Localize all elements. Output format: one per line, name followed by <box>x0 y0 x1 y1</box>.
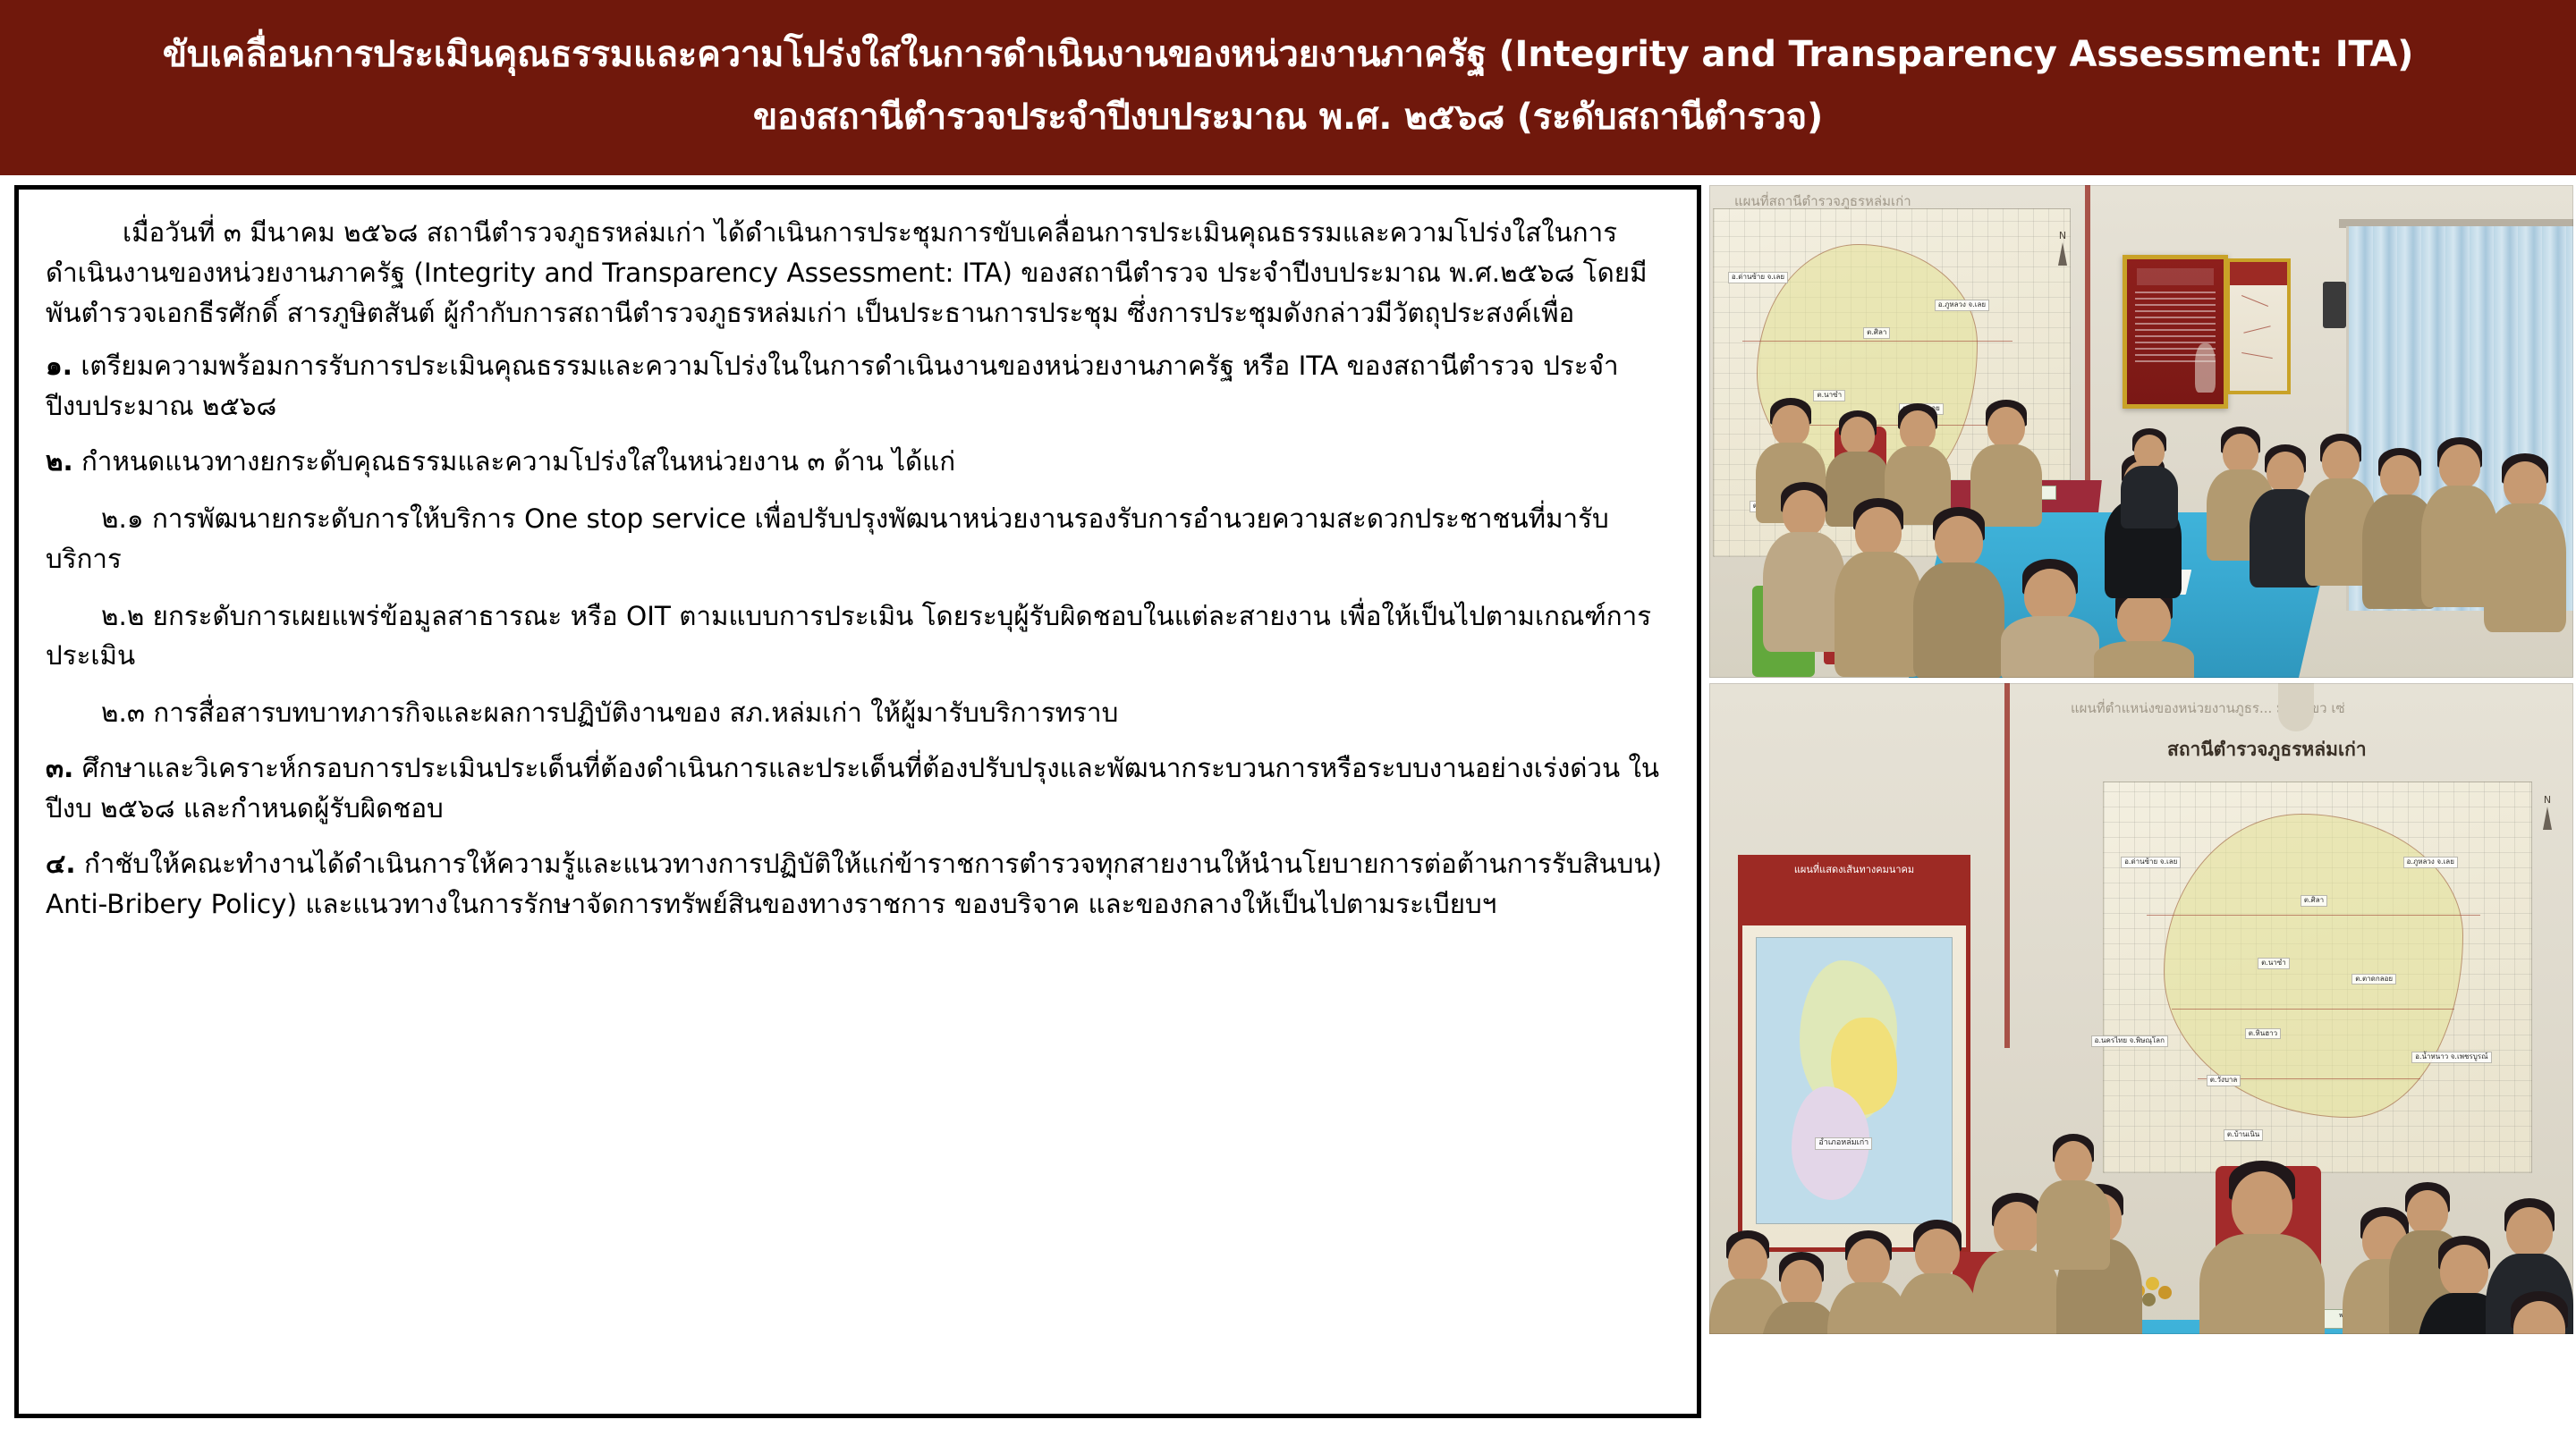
header-title-line-1: ขับเคลื่อนการประเมินคุณธรรมและความโปร่งใ… <box>163 28 2414 81</box>
poster-route-line <box>2244 325 2271 333</box>
person-head <box>2439 444 2480 489</box>
person-body <box>2484 503 2566 632</box>
list-item-2-3-number: ๒.๓ <box>101 697 145 728</box>
poster-page: ขับเคลื่อนการประเมินคุณธรรมและความโปร่งใ… <box>0 0 2576 1445</box>
route-map-district-label: อำเภอหล่มเก่า <box>1815 1137 1872 1150</box>
person-body <box>1835 552 1922 677</box>
poster-header-band <box>2137 268 2214 285</box>
officer-person <box>2001 559 2099 678</box>
wall-map-title: แผนที่สถานีตำรวจภูธรหล่มเก่า <box>1734 190 1911 212</box>
list-item-3: ๓. ศึกษาและวิเคราะห์กรอบการประเมินประเด็… <box>46 748 1670 829</box>
person-head <box>1783 490 1826 537</box>
route-map-body: อำเภอหล่มเก่า <box>1756 937 1953 1224</box>
officer-person <box>2489 1291 2573 1334</box>
photo-meeting-wide: อ.ด่านซ้าย จ.เลย อ.ภูหลวง จ.เลย ต.ศิลา ต… <box>1709 185 2573 678</box>
list-item-2-2: ๒.๒ ยกระดับการเผยแพร่ข้อมูลสาธารณะ หรือ … <box>46 596 1670 677</box>
officer-person <box>2037 1134 2110 1268</box>
person-head <box>1847 1238 1890 1287</box>
officer-person <box>2484 453 2566 632</box>
officer-person <box>2121 428 2178 527</box>
flower <box>2158 1286 2172 1299</box>
route-map-framed: แผนที่แสดงเส้นทางคมนาคม อำเภอหล่มเก่า <box>1738 855 1970 1252</box>
map-label: ต.ศิลา <box>2301 895 2327 907</box>
map-label: ต.บ้านเนิน <box>2224 1129 2263 1141</box>
photo-meeting-chair: แผนที่ตำแหน่งของหน่วยงานภูธร... ม แผ่ ขว… <box>1709 683 2573 1334</box>
list-item-2: ๒. กำหนดแนวทางยกระดับคุณธรรมและความโปร่ง… <box>46 442 1670 482</box>
compass-icon: N <box>2536 796 2559 837</box>
officer-person <box>1835 498 1922 677</box>
list-item-2-text: กำหนดแนวทางยกระดับคุณธรรมและความโปร่งใสใ… <box>81 446 955 477</box>
map-label: อ.น้ำหนาว จ.เพชรบูรณ์ <box>2411 1052 2491 1063</box>
map-label: อ.นครไทย จ.พิษณุโลก <box>2091 1035 2168 1047</box>
map-label: อ.ด่านซ้าย จ.เลย <box>1728 272 1788 283</box>
list-item-3-number: ๓. <box>46 753 73 783</box>
compass-icon: N <box>2051 232 2074 273</box>
person-head <box>1772 405 1809 446</box>
person-body <box>2199 1234 2325 1334</box>
list-item-1-text: เตรียมความพร้อมการรับการประเมินคุณธรรมแล… <box>46 351 1619 421</box>
map-label: อ.ภูหลวง จ.เลย <box>2403 857 2458 868</box>
flower <box>2146 1277 2159 1290</box>
map-label: อ.ภูหลวง จ.เลย <box>1935 300 1989 311</box>
list-item-2-1-number: ๒.๑ <box>101 503 144 534</box>
header-title-line-2: ของสถานีตำรวจประจำปีงบประมาณ พ.ศ. ๒๕๖๘ (… <box>753 90 1823 144</box>
list-item-1-number: ๑. <box>46 351 72 381</box>
poster-figure-illustration <box>2195 343 2216 393</box>
person-head <box>1841 417 1875 454</box>
person-head <box>1781 1260 1822 1306</box>
intro-paragraph: เมื่อวันที่ ๓ มีนาคม ๒๕๖๘ สถานีตำรวจภูธร… <box>46 213 1670 333</box>
person-body <box>1895 1273 1979 1334</box>
compass-north-label: N <box>2059 230 2066 241</box>
officer-person <box>1763 482 1845 652</box>
flower <box>2142 1293 2156 1306</box>
person-head <box>2440 1245 2488 1297</box>
document-text-box: เมื่อวันที่ ๓ มีนาคม ๒๕๖๘ สถานีตำรวจภูธร… <box>14 185 1701 1418</box>
person-head <box>2117 593 2171 646</box>
photo-2-scene: แผนที่ตำแหน่งของหน่วยงานภูธร... ม แผ่ ขว… <box>1709 683 2573 1334</box>
route-map-title: แผนที่แสดงเส้นทางคมนาคม <box>1742 859 1966 925</box>
poster-route-line <box>2241 295 2267 307</box>
list-item-2-1-text: การพัฒนายกระดับการให้บริการ One stop ser… <box>46 503 1609 574</box>
list-item-4-text: กำชับให้คณะทำงานได้ดำเนินการให้ความรู้แล… <box>46 849 1662 919</box>
list-item-3-text: ศึกษาและวิเคราะห์กรอบการประเมินประเด็นที… <box>46 753 1659 824</box>
person-head <box>1915 1229 1960 1277</box>
route-map-poster <box>2226 258 2291 394</box>
ceiling-lamp <box>2278 683 2314 731</box>
compass-north-label: N <box>2544 794 2551 806</box>
map-road-line <box>1742 341 2012 342</box>
wall-speaker <box>2323 282 2346 328</box>
chairman-person <box>2199 1161 2325 1334</box>
person-head <box>2232 1171 2292 1239</box>
person-head <box>2506 1207 2553 1257</box>
officer-person <box>1895 1220 1979 1334</box>
poster-route-line <box>2241 352 2272 359</box>
list-item-2-3-text: การสื่อสารบทบาทภารกิจและผลการปฏิบัติงานข… <box>153 697 1118 728</box>
person-body <box>2001 616 2099 678</box>
person-head <box>2407 1190 2448 1235</box>
map-road-line <box>2147 915 2480 916</box>
person-head <box>2024 569 2076 622</box>
map-road-line <box>2172 1009 2453 1010</box>
list-item-4: ๔. กำชับให้คณะทำงานได้ดำเนินการให้ความรู… <box>46 844 1670 925</box>
map-label: ต.ศิลา <box>1863 327 1890 339</box>
photo-column: อ.ด่านซ้าย จ.เลย อ.ภูหลวง จ.เลย ต.ศิลา ต… <box>1709 185 2573 1418</box>
person-head <box>2134 435 2165 469</box>
officer-person <box>1913 507 2004 678</box>
person-head <box>1987 407 2025 448</box>
list-item-4-number: ๔. <box>46 849 76 879</box>
person-head <box>2267 452 2304 493</box>
map-label: อ.ด่านซ้าย จ.เลย <box>2121 857 2181 868</box>
royal-quote-poster <box>2123 255 2228 409</box>
person-body <box>2121 466 2178 528</box>
intro-paragraph-text: เมื่อวันที่ ๓ มีนาคม ๒๕๖๘ สถานีตำรวจภูธร… <box>46 217 1648 328</box>
person-head <box>2055 1141 2092 1184</box>
list-item-2-1: ๒.๑ การพัฒนายกระดับการให้บริการ One stop… <box>46 499 1670 579</box>
photo-1-scene: อ.ด่านซ้าย จ.เลย อ.ภูหลวง จ.เลย ต.ศิลา ต… <box>1709 185 2573 678</box>
list-item-2-2-text: ยกระดับการเผยแพร่ข้อมูลสาธารณะ หรือ OIT … <box>46 601 1651 672</box>
map-label: ต.ตาดกลอย <box>2351 974 2396 985</box>
list-item-2-number: ๒. <box>46 446 73 477</box>
person-body <box>1913 562 2004 678</box>
map-label: ต.หินฮาว <box>2245 1028 2281 1040</box>
person-body <box>1763 532 1845 652</box>
header-banner: ขับเคลื่อนการประเมินคุณธรรมและความโปร่งใ… <box>0 0 2576 175</box>
person-head <box>2504 461 2546 508</box>
person-body <box>2094 641 2194 678</box>
person-head <box>2380 455 2419 498</box>
wall-red-stripe <box>2004 683 2010 1048</box>
person-head <box>1855 507 1902 557</box>
person-body <box>2037 1180 2110 1270</box>
person-head <box>1935 516 1983 568</box>
person-head <box>2322 441 2360 482</box>
wall-map-large: อ.ด่านซ้าย จ.เลย อ.ภูหลวง จ.เลย ต.ศิลา ต… <box>2103 782 2532 1173</box>
map-label: ต.วังบาล <box>2207 1075 2241 1086</box>
station-name-title: สถานีตำรวจภูธรหล่มเก่า <box>2167 735 2367 765</box>
map-label: ต.นาซำ <box>2258 958 2290 969</box>
list-item-2-3: ๒.๓ การสื่อสารบทบาทภารกิจและผลการปฏิบัติ… <box>46 693 1670 733</box>
person-head <box>1994 1202 2040 1254</box>
poster-title-band <box>2230 262 2287 285</box>
person-head <box>1900 410 1936 450</box>
list-item-1: ๑. เตรียมความพร้อมการรับการประเมินคุณธรร… <box>46 346 1670 427</box>
list-item-2-2-number: ๒.๒ <box>101 601 144 631</box>
